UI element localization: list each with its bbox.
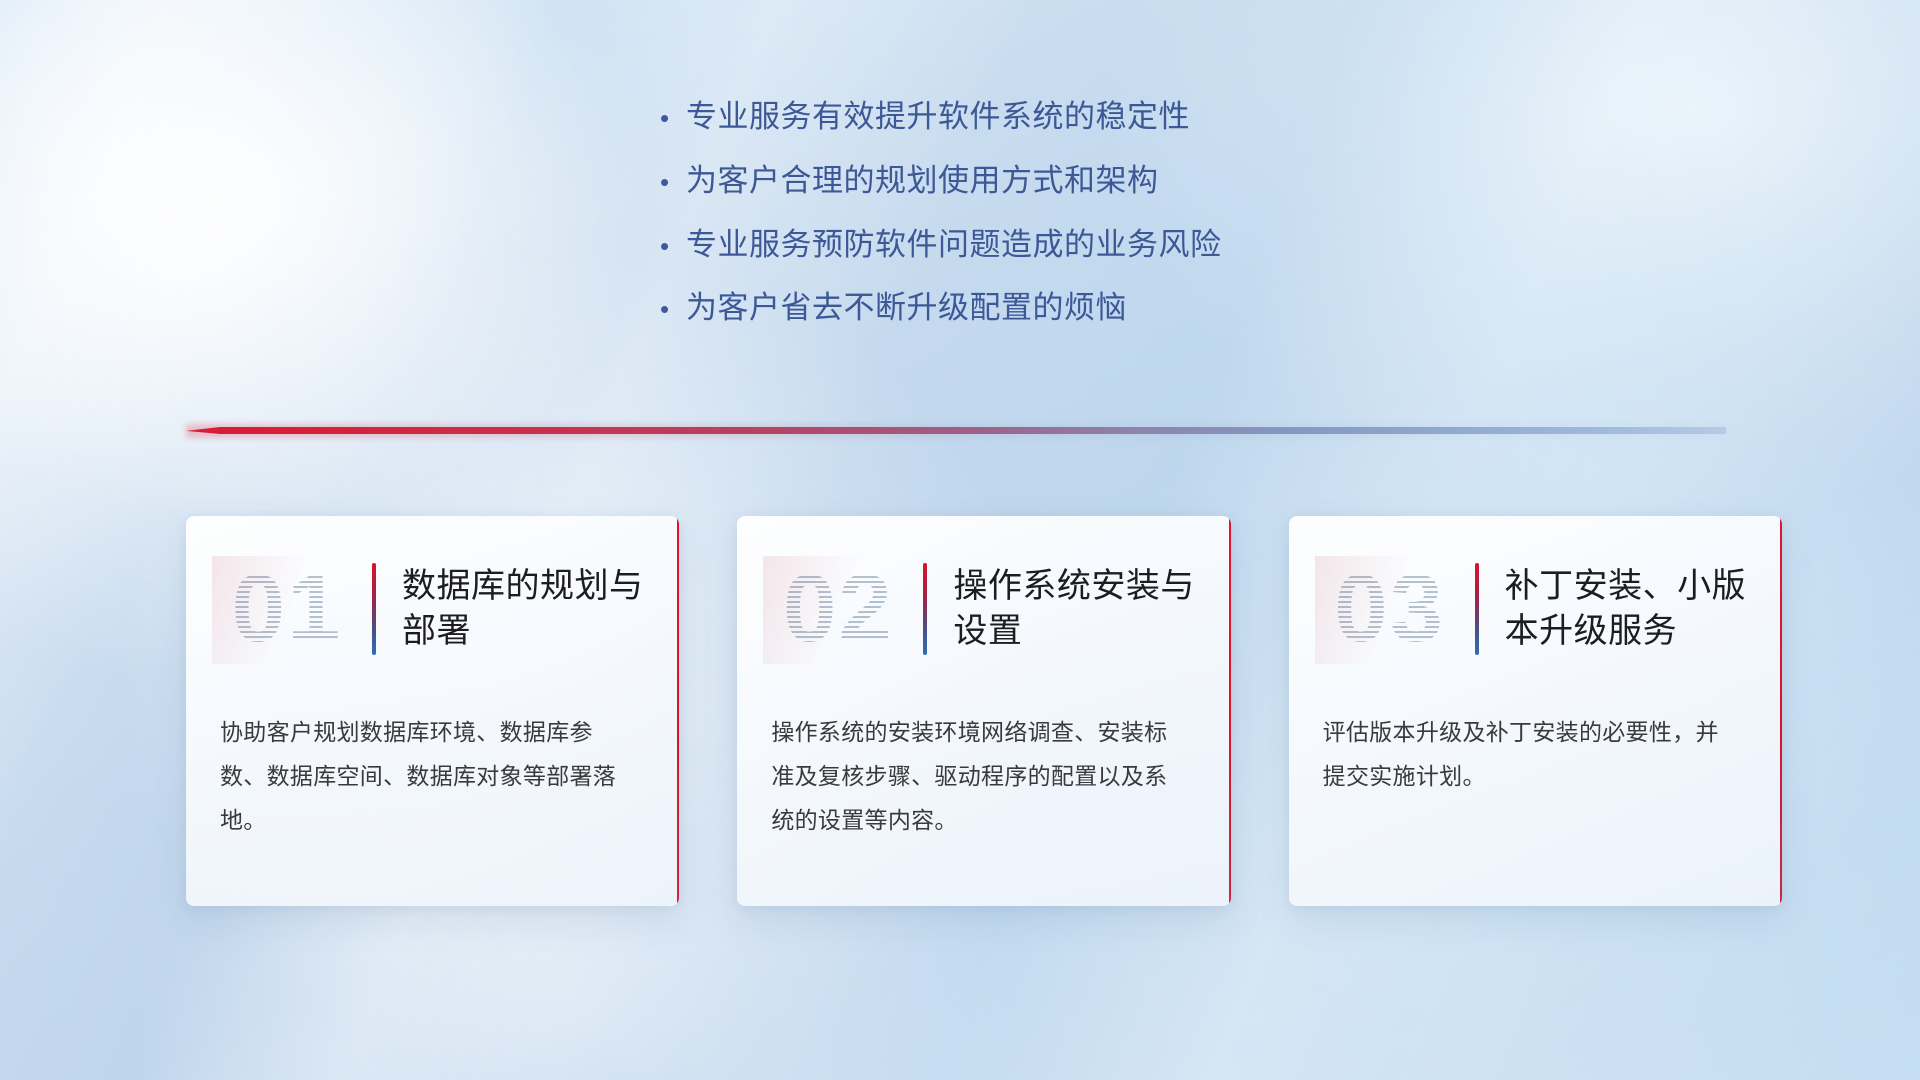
card-accent-rule [1475,563,1479,655]
card-number: 01 [212,561,362,657]
bullet-item: • 专业服务预防软件问题造成的业务风险 [660,226,1420,264]
bullet-item: • 专业服务有效提升软件系统的稳定性 [660,98,1420,136]
card-number: 02 [763,561,913,657]
service-card[interactable]: 01 数据库的规划与部署 协助客户规划数据库环境、数据库参数、数据库空间、数据库… [186,516,679,906]
card-header: 01 数据库的规划与部署 [186,516,679,702]
bullet-text: 为客户合理的规划使用方式和架构 [686,162,1159,200]
card-accent-rule [923,563,927,655]
divider-line [186,427,1726,434]
bullet-text: 为客户省去不断升级配置的烦恼 [686,289,1127,327]
section-divider [186,424,1726,438]
card-body-text: 操作系统的安装环境网络调查、安装标准及复核步骤、驱动程序的配置以及系统的设置等内… [737,702,1230,842]
service-card[interactable]: 02 操作系统安装与设置 操作系统的安装环境网络调查、安装标准及复核步骤、驱动程… [737,516,1230,906]
card-number: 03 [1315,561,1465,657]
bullet-text: 专业服务预防软件问题造成的业务风险 [686,226,1222,264]
bullet-item: • 为客户省去不断升级配置的烦恼 [660,289,1420,327]
service-card[interactable]: 03 补丁安装、小版本升级服务 评估版本升级及补丁安装的必要性，并提交实施计划。 [1289,516,1782,906]
bullet-dot-icon: • [660,105,686,131]
card-title: 操作系统安装与设置 [953,564,1230,654]
card-title: 数据库的规划与部署 [402,564,679,654]
card-header: 03 补丁安装、小版本升级服务 [1289,516,1782,702]
bullet-dot-icon: • [660,233,686,259]
bullet-item: • 为客户合理的规划使用方式和架构 [660,162,1420,200]
benefits-bullet-list: • 专业服务有效提升软件系统的稳定性 • 为客户合理的规划使用方式和架构 • 专… [660,98,1420,353]
slide-canvas: • 专业服务有效提升软件系统的稳定性 • 为客户合理的规划使用方式和架构 • 专… [0,0,1920,1080]
bullet-dot-icon: • [660,169,686,195]
card-header: 02 操作系统安装与设置 [737,516,1230,702]
card-title: 补丁安装、小版本升级服务 [1505,564,1782,654]
card-body-text: 评估版本升级及补丁安装的必要性，并提交实施计划。 [1289,702,1782,798]
card-body-text: 协助客户规划数据库环境、数据库参数、数据库空间、数据库对象等部署落地。 [186,702,679,842]
card-accent-rule [372,563,376,655]
bullet-dot-icon: • [660,296,686,322]
service-card-row: 01 数据库的规划与部署 协助客户规划数据库环境、数据库参数、数据库空间、数据库… [186,516,1782,906]
bullet-text: 专业服务有效提升软件系统的稳定性 [686,98,1190,136]
